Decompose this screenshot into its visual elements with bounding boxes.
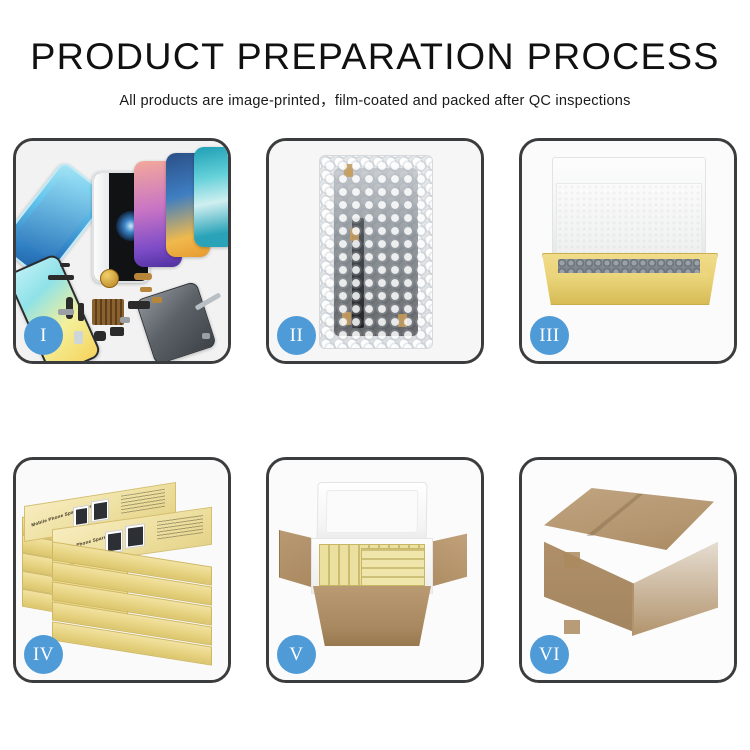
process-step-2: II [266,138,484,364]
vibration-motor-icon [100,269,119,288]
foam-lid-icon [316,482,427,546]
box-spec-lines-icon [121,489,165,514]
spare-part-icon [66,297,73,319]
step-badge-6: VI [530,635,569,674]
tape-strip-icon [342,312,351,325]
step-badge-4: IV [24,635,63,674]
foam-sheet-icon [556,183,702,259]
spare-part-icon [134,273,152,280]
phone-back-housing-icon [135,281,217,361]
box-spec-lines-icon [157,514,203,539]
process-step-4: Mobile Phone Spare Parts Mobile Phone Sp… [13,457,231,683]
yellow-box-front-icon [546,273,712,303]
spare-part-icon [140,287,152,292]
tape-strip-icon [350,228,359,241]
tape-strip-icon [344,164,353,177]
step-badge-2: II [277,316,316,355]
spare-part-icon [152,297,162,303]
step-badge-5: V [277,635,316,674]
spare-part-icon [74,331,83,344]
step-badge-3: III [530,316,569,355]
carton-body-icon [313,586,431,646]
phone-cyan-display-icon [194,147,228,247]
bubble-wrap-bag-icon [319,155,433,349]
process-step-3: III [519,138,737,364]
step-badge-1: I [24,316,63,355]
box-artwork-swatch-icon [125,523,145,549]
spare-part-icon [78,303,84,321]
spare-part-icon [110,327,124,336]
process-step-6: VI [519,457,737,683]
spare-part-icon [128,301,150,309]
product-preparation-infographic: PRODUCT PREPARATION PROCESS All products… [0,0,750,750]
spare-part-icon [202,333,210,339]
yellow-box-row-icon [361,548,425,586]
header: PRODUCT PREPARATION PROCESS All products… [0,0,750,110]
process-step-1: I [13,138,231,364]
tape-strip-icon [398,314,407,327]
process-step-grid: I II [13,138,737,683]
carton-top-face-icon [544,488,714,550]
spare-part-icon [60,263,70,267]
spare-part-icon [94,331,106,341]
carton-tape-icon [564,620,580,634]
wrapped-screen-icon [334,168,418,336]
spare-part-icon [120,317,130,323]
spare-part-icon [48,275,74,280]
page-subtitle: All products are image-printed，film-coat… [0,89,750,110]
box-artwork-swatch-icon [91,499,109,523]
spare-part-icon [58,309,74,315]
page-title: PRODUCT PREPARATION PROCESS [0,38,750,75]
carton-tape-icon [564,552,580,568]
process-step-5: V [266,457,484,683]
